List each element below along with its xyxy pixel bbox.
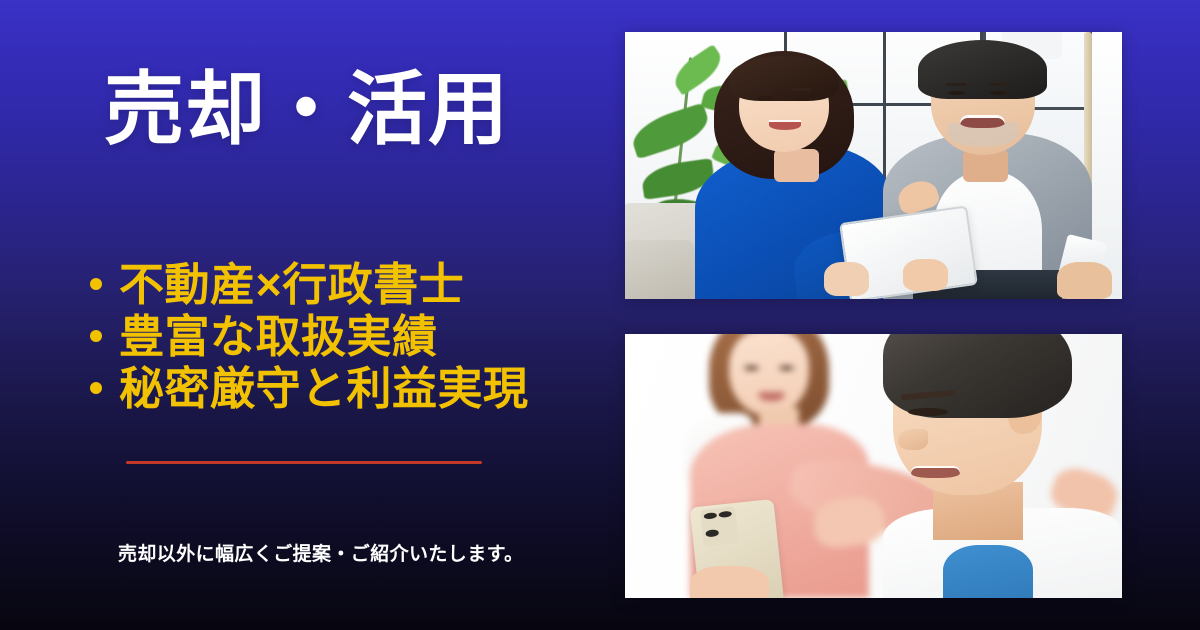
page-title: 売却・活用 [104, 70, 509, 150]
bullet-label: 秘密厳守と利益実現 [119, 366, 529, 411]
photo-illustration [625, 334, 1122, 598]
list-item: 不動産×行政書士 [88, 258, 529, 310]
bullet-dot-icon [90, 382, 102, 394]
photo-mature-couple-tablet [625, 32, 1122, 299]
divider [126, 461, 482, 464]
list-item: 秘密厳守と利益実現 [88, 362, 529, 414]
bullet-label: 不動産×行政書士 [119, 262, 464, 307]
phone-camera-icon [700, 507, 738, 547]
bullet-label: 豊富な取扱実績 [119, 314, 438, 359]
photo-illustration [625, 32, 1122, 299]
caption-text: 売却以外に幅広くご提案・ご紹介いたします。 [118, 539, 524, 566]
bullet-dot-icon [90, 330, 102, 342]
list-item: 豊富な取扱実績 [88, 310, 529, 362]
promo-banner: 売却・活用 不動産×行政書士 豊富な取扱実績 秘密厳守と利益実現 売却以外に幅広… [0, 0, 1200, 630]
left-content-column: 売却・活用 不動産×行政書士 豊富な取扱実績 秘密厳守と利益実現 売却以外に幅広… [0, 0, 620, 630]
feature-bullet-list: 不動産×行政書士 豊富な取扱実績 秘密厳守と利益実現 [88, 258, 529, 414]
photo-young-couple-smartphone [625, 334, 1122, 598]
bullet-dot-icon [90, 278, 102, 290]
